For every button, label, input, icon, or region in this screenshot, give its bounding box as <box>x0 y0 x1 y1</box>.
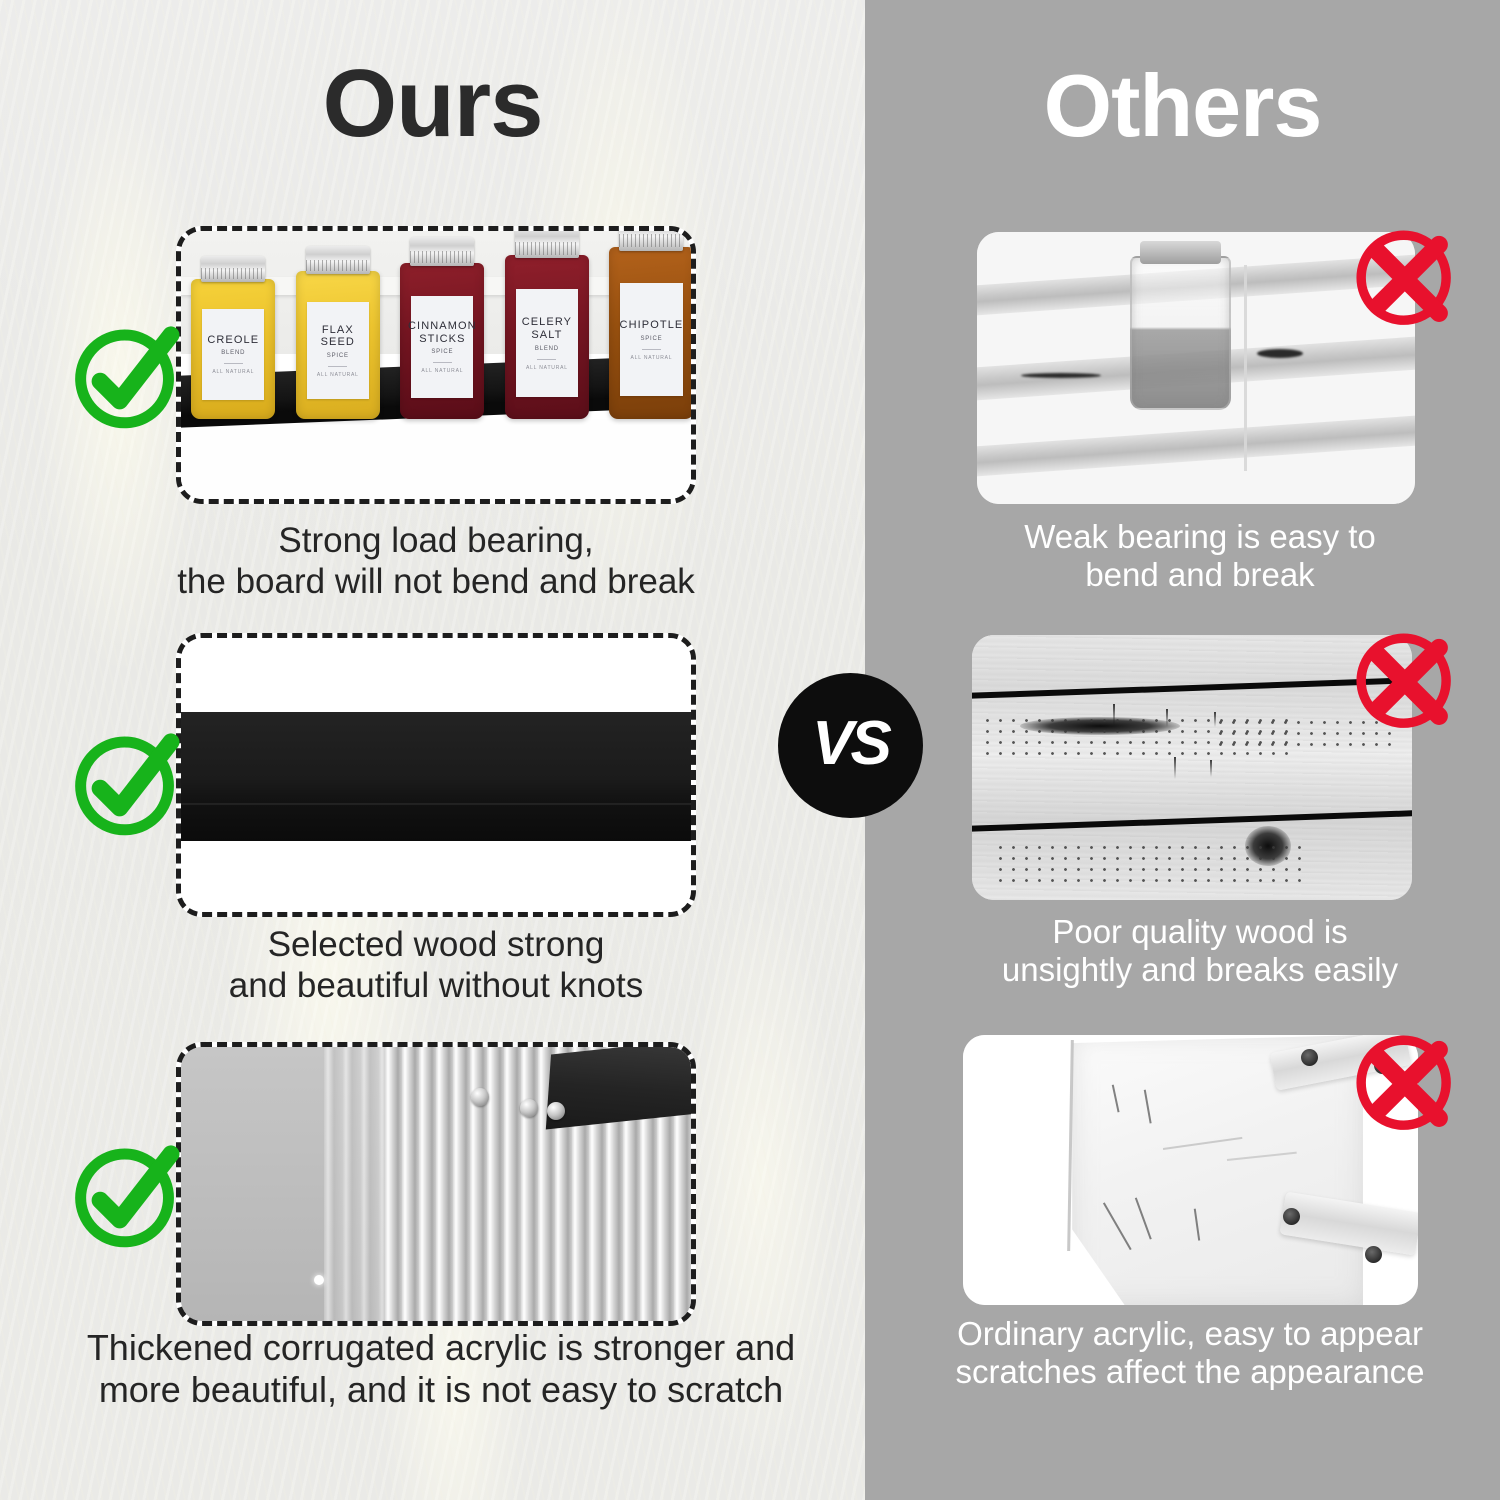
others-caption-3: Ordinary acrylic, easy to appear scratch… <box>900 1315 1480 1392</box>
jar-label-sub: SPICE <box>327 353 349 359</box>
acrylic-screws <box>462 1074 615 1123</box>
jar-label: CINNAMON STICKS SPICE ALL NATURAL <box>411 296 473 399</box>
jar-label: CHIPOTLE SPICE ALL NATURAL <box>620 283 682 396</box>
jar-label-name: CREOLE <box>207 334 259 347</box>
spice-jar: CREOLE BLEND ALL NATURAL <box>191 279 275 418</box>
bracket-screw <box>1283 1208 1300 1225</box>
others-caption-2: Poor quality wood is unsightly and break… <box>940 913 1460 990</box>
jar-label-name: CINNAMON STICKS <box>408 320 477 345</box>
jar-lid <box>410 237 474 267</box>
jar-label-note: ALL NATURAL <box>421 368 463 374</box>
ours-heading: Ours <box>0 56 865 152</box>
jar-label-note: ALL NATURAL <box>526 365 568 371</box>
jar-lid <box>515 227 579 258</box>
jar-label-name: CELERY SALT <box>519 316 575 341</box>
jar-label-sub: BLEND <box>535 346 559 352</box>
jar-label-sub: SPICE <box>431 349 453 355</box>
check-circle-icon <box>66 720 188 847</box>
others-caption-1: Weak bearing is easy to bend and break <box>950 518 1450 595</box>
cross-circle-icon <box>1347 214 1465 337</box>
ours-caption-3: Thickened corrugated acrylic is stronger… <box>56 1327 826 1411</box>
spice-jar: FLAX SEED SPICE ALL NATURAL <box>296 271 380 418</box>
others-photo-poor-wood <box>972 635 1412 900</box>
spice-jar: CELERY SALT BLEND ALL NATURAL <box>505 255 589 418</box>
cross-circle-icon <box>1347 1019 1465 1142</box>
check-circle-icon <box>66 1132 188 1259</box>
jar-label-note: ALL NATURAL <box>212 369 254 375</box>
spice-jar: CHIPOTLE SPICE ALL NATURAL <box>609 247 693 419</box>
jar-lid <box>1140 241 1221 265</box>
jar-label: FLAX SEED SPICE ALL NATURAL <box>307 302 369 399</box>
ours-photo-corrugated-acrylic <box>176 1042 696 1326</box>
jar-lid <box>619 226 683 251</box>
ours-photo-selected-wood <box>176 633 696 917</box>
jar-label-note: ALL NATURAL <box>317 372 359 378</box>
comparison-infographic: Ours Others CREOLE BLEND ALL NATURAL <box>0 0 1500 1500</box>
jar-label-name: CHIPOTLE <box>620 319 684 332</box>
vs-badge-label: VS <box>812 708 889 779</box>
jar-label-note: ALL NATURAL <box>631 355 673 361</box>
cross-circle-icon <box>1347 617 1465 740</box>
ours-caption-2: Selected wood strong and beautiful witho… <box>126 925 746 1006</box>
ours-photo-strong-load-bearing: CREOLE BLEND ALL NATURAL FLAX SEED SPICE… <box>176 226 696 504</box>
others-heading: Others <box>865 62 1500 150</box>
jar-lid <box>201 256 265 282</box>
jar-label-sub: BLEND <box>221 350 245 356</box>
spice-jar: CINNAMON STICKS SPICE ALL NATURAL <box>400 263 484 418</box>
jar-label: CELERY SALT BLEND ALL NATURAL <box>516 289 578 397</box>
ours-caption-1: Strong load bearing, the board will not … <box>126 521 746 602</box>
check-circle-icon <box>66 313 188 440</box>
glass-jar <box>1130 256 1230 410</box>
bracket-screw <box>1301 1049 1318 1066</box>
bracket-screw <box>1365 1246 1382 1263</box>
vs-badge-icon: VS <box>778 673 923 818</box>
jar-label-sub: SPICE <box>640 336 662 342</box>
jar-label: CREOLE BLEND ALL NATURAL <box>202 309 264 401</box>
jar-label-name: FLAX SEED <box>310 324 366 349</box>
jar-lid <box>306 246 370 274</box>
